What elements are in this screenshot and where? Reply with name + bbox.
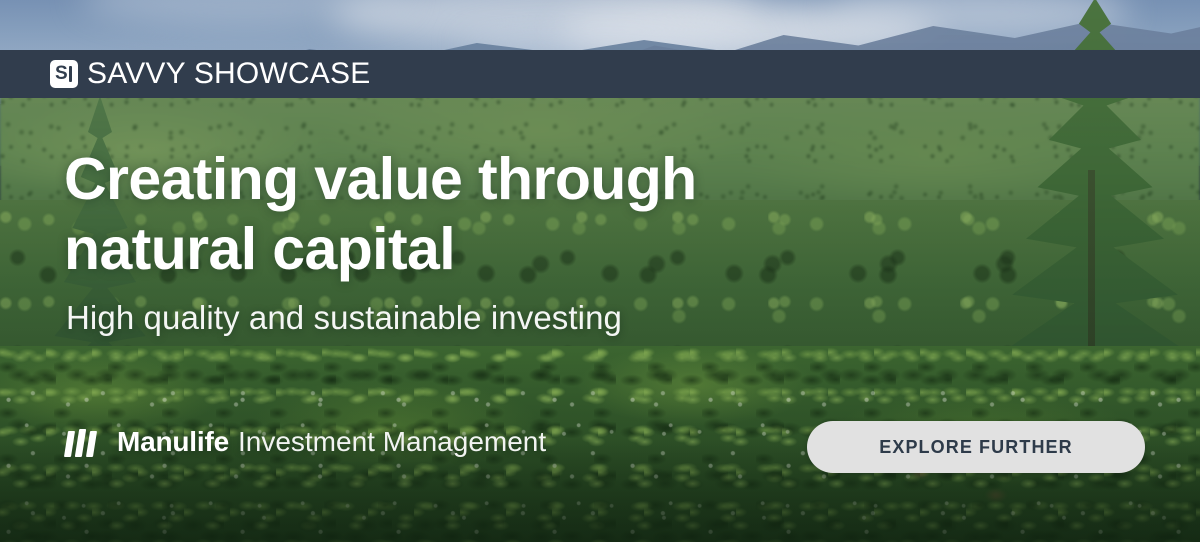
brand-title: SAVVY SHOWCASE — [87, 57, 370, 91]
page-subtitle: High quality and sustainable investing — [66, 299, 622, 337]
savvy-si-monogram-icon: S — [50, 60, 78, 88]
logo-bar — [75, 429, 86, 457]
brand-lockup[interactable]: S SAVVY SHOWCASE — [50, 57, 370, 91]
partner-name: Manulife — [117, 426, 229, 458]
savvy-showcase-banner: S SAVVY SHOWCASE Creating value through … — [0, 0, 1200, 542]
logo-bar — [86, 431, 97, 457]
partner-subname: Investment Management — [238, 426, 546, 458]
explore-further-button[interactable]: EXPLORE FURTHER — [807, 421, 1145, 473]
monogram-bar — [69, 66, 72, 82]
logo-bar — [64, 431, 75, 457]
page-title: Creating value through natural capital — [64, 144, 904, 284]
partner-logo: Manulife Investment Management — [66, 426, 546, 458]
monogram-letter: S — [55, 65, 67, 83]
header-bar: S SAVVY SHOWCASE — [0, 50, 1200, 98]
manulife-three-bars-icon — [66, 427, 95, 457]
